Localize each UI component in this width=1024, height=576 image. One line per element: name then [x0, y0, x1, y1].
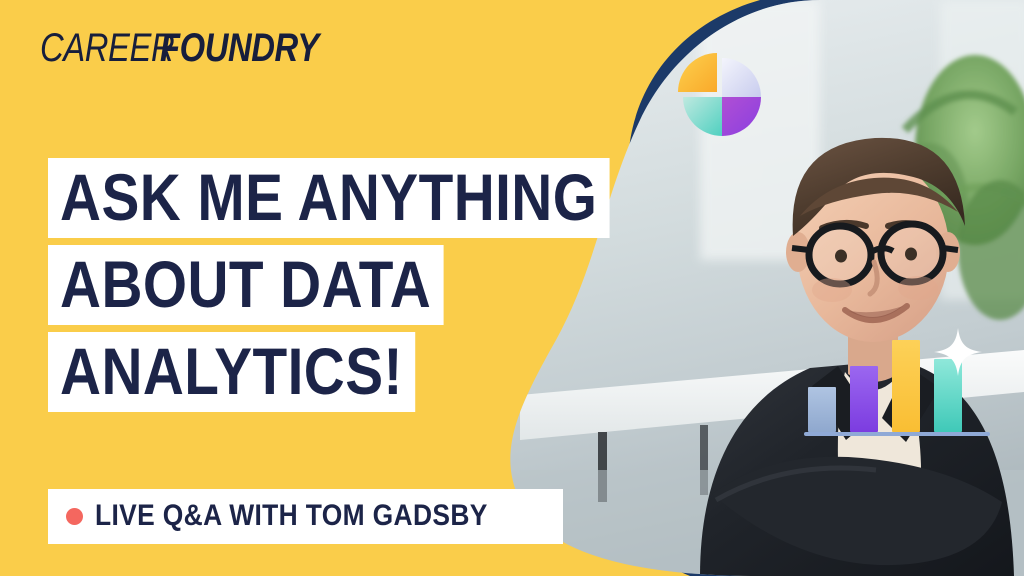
bar-2	[850, 366, 878, 432]
four-point-sparkle-icon	[934, 328, 982, 376]
pie-slice-yellow	[678, 53, 717, 92]
pie-slice-purple	[722, 97, 761, 136]
logo-word-foundry: FOUNDRY	[160, 28, 319, 68]
headline-block: ASK ME ANYTHING ABOUT DATA ANALYTICS!	[48, 158, 701, 412]
live-subtitle-text: LIVE Q&A WITH TOM GADSBY	[95, 499, 488, 533]
thumbnail-canvas: CAREER FOUNDRY ASK ME ANYTHING ABOUT DAT…	[0, 0, 1024, 576]
pie-chart	[668, 46, 768, 146]
bar-1	[808, 387, 836, 432]
live-dot-icon	[66, 508, 83, 525]
live-subtitle-bar: LIVE Q&A WITH TOM GADSBY	[48, 489, 563, 544]
pie-slice-teal	[683, 97, 722, 136]
brand-logo[interactable]: CAREER FOUNDRY	[40, 28, 353, 68]
pie-slice-lavender	[722, 58, 761, 97]
headline-line-3: ANALYTICS!	[48, 332, 415, 412]
headline-line-2: ABOUT DATA	[48, 245, 443, 325]
bar-chart-baseline	[804, 432, 990, 436]
headline-line-1: ASK ME ANYTHING	[48, 158, 609, 238]
logo-word-career: CAREER	[40, 28, 174, 68]
bar-3	[892, 340, 920, 432]
